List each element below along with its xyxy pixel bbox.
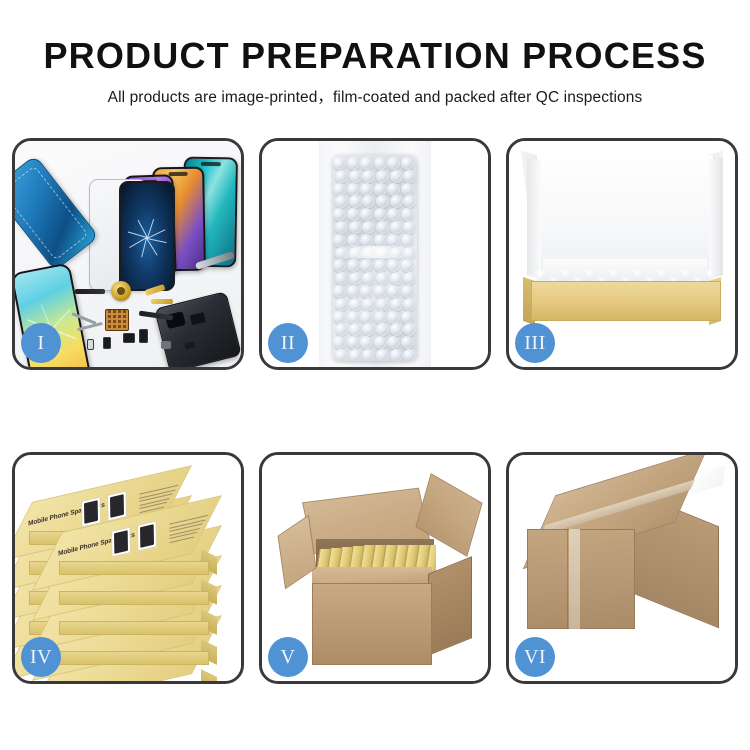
bubble-icon [349, 323, 362, 336]
step-numeral: II [281, 333, 295, 353]
bubble-icon [362, 323, 375, 336]
bubble-icon [360, 311, 373, 324]
header: PRODUCT PREPARATION PROCESS All products… [0, 34, 750, 107]
bubble-icon [390, 221, 403, 234]
bubble-icon [360, 157, 373, 170]
step-panel-4: Mobile Phone Spare PartsMobile Phone Spa… [12, 452, 244, 684]
film-sheen-icon [333, 246, 417, 258]
bubble-icon [401, 208, 414, 221]
bubble-icon [376, 298, 389, 311]
page-title: PRODUCT PREPARATION PROCESS [0, 34, 750, 78]
bubble-icon [347, 285, 360, 298]
step-panel-3: III [506, 138, 738, 370]
sim-tray-icon [87, 339, 94, 350]
bubble-icon [401, 336, 414, 349]
bubble-icon [387, 259, 400, 272]
box-front-face [59, 621, 209, 635]
bubble-wrapped-item [333, 155, 417, 361]
bubble-icon [390, 298, 403, 311]
bubble-icon [362, 349, 375, 361]
ic-chip-icon [105, 309, 129, 331]
step-panel-6: VI [506, 452, 738, 684]
bubble-icon [403, 349, 416, 361]
bubble-icon [333, 285, 346, 298]
bubble-icon [335, 195, 348, 208]
bubble-icon [347, 157, 360, 170]
bubble-grid [334, 156, 416, 360]
bubble-icon [335, 349, 348, 361]
bubble-icon [349, 221, 362, 234]
bubble-icon [335, 323, 348, 336]
bubble-icon [376, 195, 389, 208]
steps-grid: I II [12, 138, 738, 684]
bubble-icon [360, 285, 373, 298]
bubble-icon [403, 298, 416, 311]
bubble-icon [347, 183, 360, 196]
packing-tape-front-icon [569, 529, 580, 629]
carton-front-panel-icon [527, 529, 635, 629]
step-badge-2: II [268, 323, 308, 363]
bubble-icon [387, 311, 400, 324]
bubble-icon [403, 195, 416, 208]
page-subtitle: All products are image-printed，film-coat… [0, 85, 750, 107]
bubble-icon [374, 157, 387, 170]
step-badge-6: VI [515, 637, 555, 677]
bubble-icon [347, 208, 360, 221]
bubble-icon [374, 336, 387, 349]
vibration-motor-icon [111, 281, 131, 301]
bubble-icon [376, 170, 389, 183]
bubble-icon [403, 272, 416, 285]
bubble-icon [347, 311, 360, 324]
bubble-icon [374, 285, 387, 298]
bubble-icon [333, 259, 346, 272]
bubble-icon [401, 157, 414, 170]
bubble-icon [333, 208, 346, 221]
bubble-icon [360, 259, 373, 272]
bubble-icon [387, 336, 400, 349]
step-badge-1: I [21, 323, 61, 363]
bubble-icon [349, 195, 362, 208]
bubble-icon [374, 259, 387, 272]
box-front-face [59, 591, 209, 605]
crack-pattern-icon [126, 217, 168, 259]
bubble-icon [387, 285, 400, 298]
bubble-icon [333, 157, 346, 170]
bubble-icon [335, 170, 348, 183]
carton-front-panel-icon [312, 583, 432, 665]
bubble-icon [362, 272, 375, 285]
bubble-icon [403, 170, 416, 183]
step-numeral: IV [30, 647, 52, 667]
bubble-icon [401, 259, 414, 272]
bubble-icon [333, 183, 346, 196]
bubble-icon [390, 323, 403, 336]
bubble-icon [374, 311, 387, 324]
bubble-icon [390, 195, 403, 208]
bubble-icon [347, 259, 360, 272]
bubble-icon [333, 336, 346, 349]
bubble-icon [360, 208, 373, 221]
bubble-icon [360, 336, 373, 349]
bubble-icon [390, 349, 403, 361]
bubble-icon [387, 183, 400, 196]
step-panel-1: I [12, 138, 244, 370]
step-badge-3: III [515, 323, 555, 363]
bubble-icon [376, 221, 389, 234]
bubble-icon [376, 272, 389, 285]
bubble-icon [376, 349, 389, 361]
box-front-panel-icon [531, 281, 721, 321]
box-front-face [59, 561, 209, 575]
box-side-face [201, 669, 217, 681]
bubble-icon [335, 272, 348, 285]
bubble-icon [347, 336, 360, 349]
bubble-icon [401, 285, 414, 298]
step-badge-4: IV [21, 637, 61, 677]
bubble-icon [374, 183, 387, 196]
camera-module-icon [139, 329, 148, 343]
gold-contact-icon [151, 299, 173, 304]
bubble-icon [349, 349, 362, 361]
step-panel-2: II [259, 138, 491, 370]
bubble-icon [349, 298, 362, 311]
step-numeral: III [524, 333, 545, 353]
bubble-icon [374, 208, 387, 221]
bubble-icon [362, 170, 375, 183]
bubble-icon [362, 221, 375, 234]
step-numeral: I [37, 333, 44, 353]
bubble-icon [349, 272, 362, 285]
carton-seam-icon [567, 529, 568, 629]
phone-display-icon [119, 181, 175, 291]
bubble-icon [362, 298, 375, 311]
bubble-icon [403, 221, 416, 234]
bubble-icon [401, 183, 414, 196]
small-part-icon [103, 337, 111, 349]
bubble-icon [362, 195, 375, 208]
bubble-icon [387, 157, 400, 170]
bubble-icon [335, 298, 348, 311]
speaker-module-icon [123, 333, 135, 343]
bubble-icon [376, 323, 389, 336]
bubble-icon [403, 323, 416, 336]
bubble-icon [390, 170, 403, 183]
step-numeral: VI [524, 647, 546, 667]
box-front-face [59, 651, 209, 665]
bubble-icon [335, 221, 348, 234]
step-panel-5: V [259, 452, 491, 684]
metal-bracket-icon [161, 341, 171, 349]
step-badge-5: V [268, 637, 308, 677]
bubble-icon [390, 272, 403, 285]
bubble-icon [349, 170, 362, 183]
bubble-icon [360, 183, 373, 196]
bubble-icon [333, 311, 346, 324]
bubble-icon [401, 311, 414, 324]
step-numeral: V [281, 647, 296, 667]
bubble-icon [387, 208, 400, 221]
flex-cable-icon [75, 289, 105, 294]
product-preparation-infographic: PRODUCT PREPARATION PROCESS All products… [0, 0, 750, 750]
